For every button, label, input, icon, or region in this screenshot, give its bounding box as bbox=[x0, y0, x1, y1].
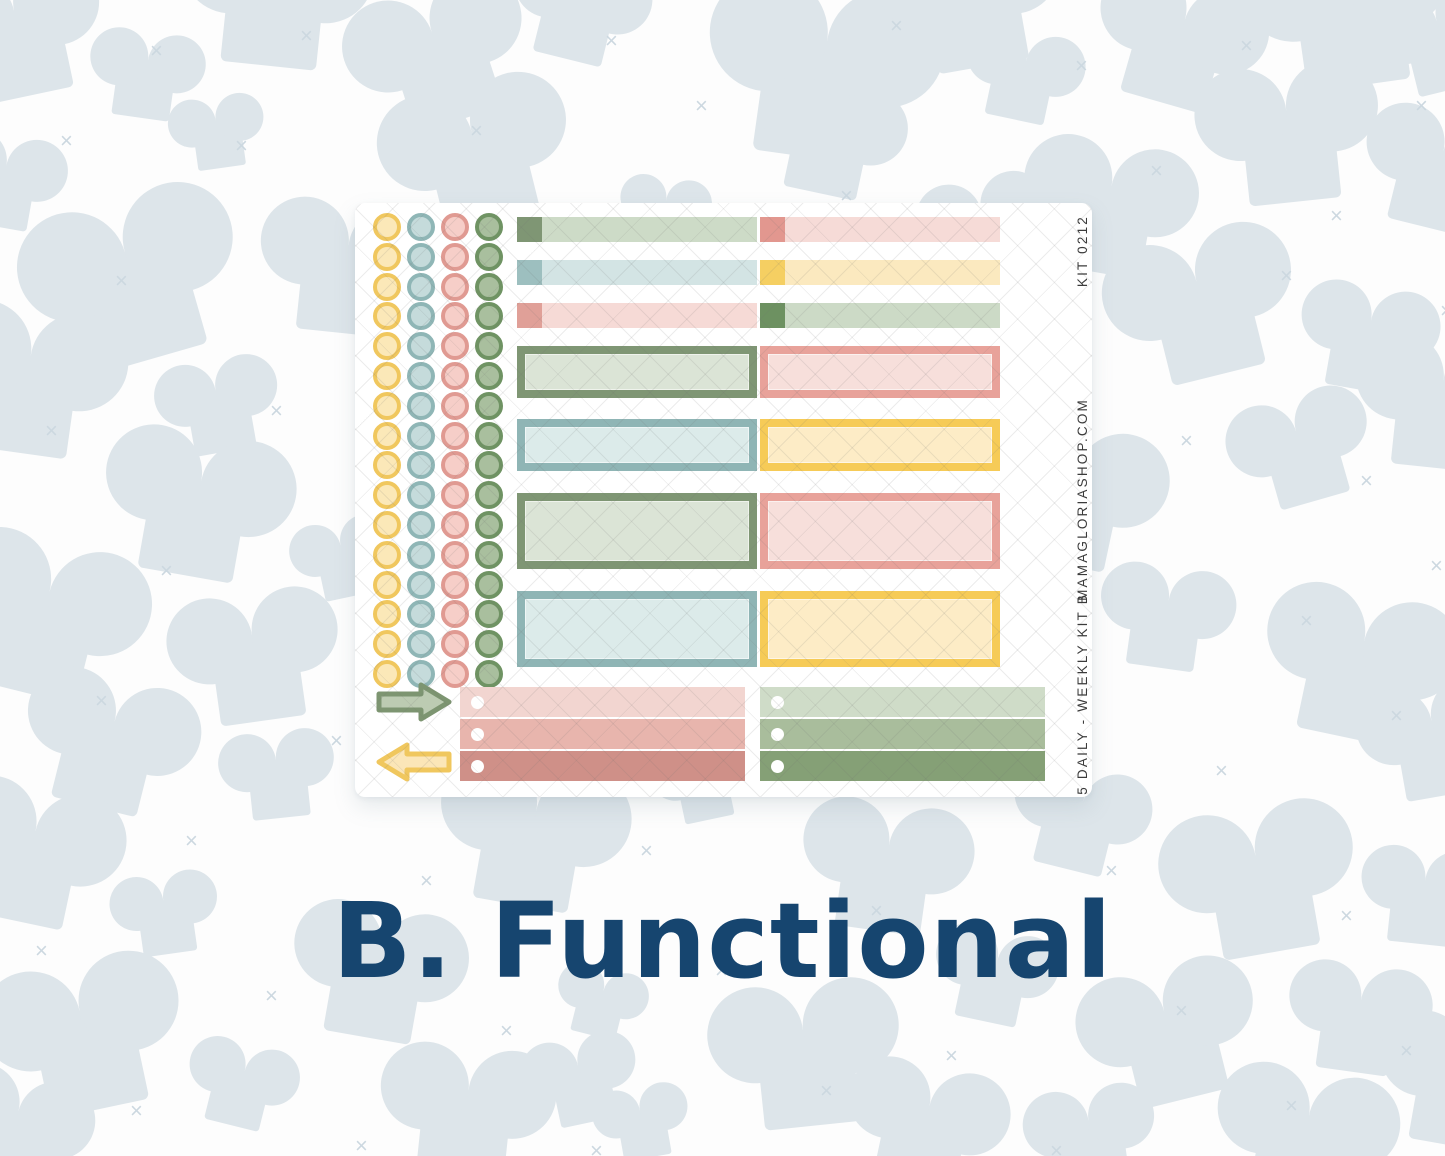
box-pink-1[interactable] bbox=[760, 346, 1000, 398]
cross-icon: × bbox=[45, 420, 58, 442]
banner-pink-dark-hole-icon bbox=[471, 760, 484, 773]
dot-sticker-pink[interactable] bbox=[441, 571, 469, 599]
header-strip-green-left-body bbox=[542, 217, 757, 242]
heart-icon bbox=[0, 160, 37, 232]
dot-sticker-yellow[interactable] bbox=[373, 302, 401, 330]
dot-sticker-teal[interactable] bbox=[407, 630, 435, 658]
dot-sticker-green[interactable] bbox=[475, 302, 503, 330]
heart-icon bbox=[1387, 142, 1445, 237]
header-strip-green-right[interactable] bbox=[760, 303, 1000, 328]
dot-sticker-green[interactable] bbox=[475, 481, 503, 509]
dot-sticker-teal[interactable] bbox=[407, 392, 435, 420]
heart-icon bbox=[247, 757, 311, 821]
heart-icon bbox=[1408, 1053, 1445, 1153]
dot-sticker-green[interactable] bbox=[475, 451, 503, 479]
cross-icon: × bbox=[1075, 55, 1088, 77]
dot-sticker-teal[interactable] bbox=[407, 302, 435, 330]
dot-sticker-pink[interactable] bbox=[441, 630, 469, 658]
header-strip-pink-right-tab bbox=[760, 217, 785, 242]
dot-sticker-pink[interactable] bbox=[441, 302, 469, 330]
cross-icon: × bbox=[1280, 265, 1293, 287]
dot-sticker-pink[interactable] bbox=[441, 481, 469, 509]
dot-sticker-teal[interactable] bbox=[407, 571, 435, 599]
header-strip-pink-right-body bbox=[785, 217, 1000, 242]
sheet-label-shop-url: MAMAGLORIASHOP.COM bbox=[1075, 398, 1090, 601]
header-strip-green-left[interactable] bbox=[517, 217, 757, 242]
heart-icon bbox=[111, 56, 177, 122]
dot-sticker-green[interactable] bbox=[475, 213, 503, 241]
sticker-sheet-content bbox=[355, 203, 1092, 797]
header-strip-yellow-right[interactable] bbox=[760, 260, 1000, 285]
cross-icon: × bbox=[355, 1135, 368, 1156]
cross-icon: × bbox=[1360, 470, 1373, 492]
heart-icon bbox=[137, 472, 248, 583]
cross-icon: × bbox=[1330, 205, 1343, 227]
box-teal-1[interactable] bbox=[517, 419, 757, 471]
box-green-1-inner bbox=[525, 354, 749, 390]
dot-sticker-pink[interactable] bbox=[441, 541, 469, 569]
dot-column-pink bbox=[441, 213, 475, 690]
cross-icon: × bbox=[330, 730, 343, 752]
dot-sticker-teal[interactable] bbox=[407, 451, 435, 479]
dot-sticker-yellow[interactable] bbox=[373, 392, 401, 420]
header-strip-teal-left[interactable] bbox=[517, 260, 757, 285]
sheet-label-kit-number: KIT 0212 bbox=[1075, 215, 1090, 287]
arrow-right-green[interactable] bbox=[375, 681, 453, 723]
cross-icon: × bbox=[1150, 160, 1163, 182]
dot-sticker-teal[interactable] bbox=[407, 600, 435, 628]
header-strip-pink-left-body bbox=[542, 303, 757, 328]
dot-sticker-teal[interactable] bbox=[407, 422, 435, 450]
heart-icon bbox=[0, 1102, 56, 1156]
arrow-right-green-shape bbox=[379, 685, 449, 719]
dot-sticker-pink[interactable] bbox=[441, 422, 469, 450]
cross-icon: × bbox=[300, 25, 313, 47]
cross-icon: × bbox=[890, 15, 903, 37]
header-strip-pink-left-tab bbox=[517, 303, 542, 328]
dot-sticker-teal[interactable] bbox=[407, 481, 435, 509]
header-strip-yellow-right-tab bbox=[760, 260, 785, 285]
banner-pink-light-hole-icon bbox=[471, 696, 484, 709]
heart-icon bbox=[755, 1025, 861, 1131]
heart-icon bbox=[1261, 421, 1350, 510]
dot-sticker-yellow[interactable] bbox=[373, 451, 401, 479]
cross-icon: × bbox=[95, 690, 108, 712]
dot-sticker-green[interactable] bbox=[475, 243, 503, 271]
banner-pink-light[interactable] bbox=[460, 687, 745, 717]
dot-sticker-teal[interactable] bbox=[407, 332, 435, 360]
cross-icon: × bbox=[695, 95, 708, 117]
dot-sticker-pink[interactable] bbox=[441, 511, 469, 539]
cross-icon: × bbox=[945, 1045, 958, 1067]
sheet-label-kit-descriptor: PP A5 DAILY - WEEKLY KIT B bbox=[1075, 593, 1090, 797]
page-title: B. Functional bbox=[0, 880, 1445, 1002]
heart-icon bbox=[204, 1064, 272, 1132]
dot-sticker-green[interactable] bbox=[475, 273, 503, 301]
heart-icon bbox=[616, 1106, 672, 1156]
heart-icon bbox=[1240, 105, 1341, 206]
cross-icon: × bbox=[115, 270, 128, 292]
arrow-left-yellow-shape bbox=[379, 745, 449, 779]
heart-icon bbox=[0, 349, 79, 460]
cross-icon: × bbox=[1440, 300, 1445, 322]
box-yellow-2[interactable] bbox=[760, 591, 1000, 667]
heart-icon bbox=[783, 113, 871, 201]
cross-icon: × bbox=[235, 135, 248, 157]
banner-pink-dark[interactable] bbox=[460, 751, 745, 781]
cross-icon: × bbox=[150, 40, 163, 62]
dot-sticker-yellow[interactable] bbox=[373, 273, 401, 301]
dot-sticker-pink[interactable] bbox=[441, 332, 469, 360]
dot-sticker-green[interactable] bbox=[475, 600, 503, 628]
dot-sticker-teal[interactable] bbox=[407, 362, 435, 390]
dot-sticker-teal[interactable] bbox=[407, 511, 435, 539]
dot-sticker-pink[interactable] bbox=[441, 392, 469, 420]
dot-sticker-teal[interactable] bbox=[407, 243, 435, 271]
dot-sticker-pink[interactable] bbox=[441, 362, 469, 390]
dot-sticker-yellow[interactable] bbox=[373, 600, 401, 628]
header-strip-pink-left[interactable] bbox=[517, 303, 757, 328]
dot-sticker-green[interactable] bbox=[475, 630, 503, 658]
banner-green-dark[interactable] bbox=[760, 751, 1045, 781]
cross-icon: × bbox=[605, 30, 618, 52]
cross-icon: × bbox=[1285, 1095, 1298, 1117]
dot-sticker-yellow[interactable] bbox=[373, 511, 401, 539]
cross-icon: × bbox=[1300, 610, 1313, 632]
header-strip-green-left-tab bbox=[517, 217, 542, 242]
dot-sticker-green[interactable] bbox=[475, 362, 503, 390]
banner-pink-medium[interactable] bbox=[460, 719, 745, 749]
cross-icon: × bbox=[1430, 555, 1443, 577]
dot-sticker-pink[interactable] bbox=[441, 273, 469, 301]
heart-icon bbox=[1126, 596, 1203, 673]
box-teal-1-inner bbox=[525, 427, 749, 463]
dot-sticker-pink[interactable] bbox=[441, 243, 469, 271]
cross-icon: × bbox=[1105, 860, 1118, 882]
banner-green-medium-hole-icon bbox=[771, 728, 784, 741]
banner-group-pink bbox=[460, 687, 745, 783]
cross-icon: × bbox=[160, 560, 173, 582]
dot-sticker-yellow[interactable] bbox=[373, 213, 401, 241]
cross-icon: × bbox=[270, 400, 283, 422]
cross-icon: × bbox=[820, 1080, 833, 1102]
box-yellow-1-inner bbox=[768, 427, 992, 463]
heart-icon bbox=[1150, 270, 1266, 386]
header-strip-green-right-tab bbox=[760, 303, 785, 328]
box-teal-2-inner bbox=[525, 599, 749, 659]
banner-pink-medium-hole-icon bbox=[471, 728, 484, 741]
heart-icon bbox=[872, 1097, 969, 1156]
cross-icon: × bbox=[1240, 35, 1253, 57]
heart-icon bbox=[1403, 13, 1445, 98]
dot-sticker-green[interactable] bbox=[475, 422, 503, 450]
cross-icon: × bbox=[1050, 1140, 1063, 1156]
dot-column-green bbox=[475, 213, 509, 690]
dot-column-teal bbox=[407, 213, 441, 690]
cross-icon: × bbox=[1400, 1040, 1413, 1062]
cross-icon: × bbox=[470, 120, 483, 142]
heart-icon bbox=[1391, 376, 1445, 473]
dot-sticker-yellow[interactable] bbox=[373, 630, 401, 658]
cross-icon: × bbox=[1415, 95, 1428, 117]
banner-green-light[interactable] bbox=[760, 687, 1045, 717]
arrow-left-yellow[interactable] bbox=[375, 741, 453, 783]
dot-sticker-yellow[interactable] bbox=[373, 571, 401, 599]
header-strip-teal-left-tab bbox=[517, 260, 542, 285]
heart-icon bbox=[0, 2, 74, 104]
header-strip-pink-right[interactable] bbox=[760, 217, 1000, 242]
cross-icon: × bbox=[1215, 760, 1228, 782]
header-strip-green-right-body bbox=[785, 303, 1000, 328]
banner-group-green bbox=[760, 687, 1045, 783]
cross-icon: × bbox=[500, 1020, 513, 1042]
dot-sticker-teal[interactable] bbox=[407, 213, 435, 241]
heart-icon bbox=[1056, 1116, 1131, 1156]
dot-sticker-green[interactable] bbox=[475, 392, 503, 420]
cross-icon: × bbox=[60, 130, 73, 152]
dot-sticker-green[interactable] bbox=[475, 511, 503, 539]
heart-icon bbox=[550, 1060, 619, 1129]
dot-sticker-yellow[interactable] bbox=[373, 362, 401, 390]
box-pink-2-inner bbox=[768, 501, 992, 561]
cross-icon: × bbox=[1180, 430, 1193, 452]
heart-icon bbox=[1248, 1108, 1355, 1156]
box-green-2[interactable] bbox=[517, 493, 757, 569]
heart-icon bbox=[416, 1086, 513, 1156]
dot-sticker-yellow[interactable] bbox=[373, 481, 401, 509]
header-strip-yellow-right-body bbox=[785, 260, 1000, 285]
sticker-sheet: KIT 0212 MAMAGLORIASHOP.COM PP A5 DAILY … bbox=[355, 203, 1092, 797]
box-yellow-2-inner bbox=[768, 599, 992, 659]
dot-sticker-yellow[interactable] bbox=[373, 243, 401, 271]
heart-icon bbox=[984, 54, 1055, 125]
box-green-2-inner bbox=[525, 501, 749, 561]
banner-green-medium[interactable] bbox=[760, 719, 1045, 749]
box-pink-2[interactable] bbox=[760, 493, 1000, 569]
box-teal-2[interactable] bbox=[517, 591, 757, 667]
heart-icon bbox=[209, 629, 306, 726]
box-yellow-1[interactable] bbox=[760, 419, 1000, 471]
dot-sticker-green[interactable] bbox=[475, 571, 503, 599]
dot-sticker-pink[interactable] bbox=[441, 213, 469, 241]
cross-icon: × bbox=[640, 840, 653, 862]
dot-sticker-teal[interactable] bbox=[407, 541, 435, 569]
cross-icon: × bbox=[185, 830, 198, 852]
dot-sticker-green[interactable] bbox=[475, 332, 503, 360]
dot-column-yellow bbox=[373, 213, 407, 690]
cross-icon: × bbox=[1175, 1000, 1188, 1022]
dot-sticker-green[interactable] bbox=[475, 541, 503, 569]
cross-icon: × bbox=[590, 1140, 603, 1156]
dot-sticker-pink[interactable] bbox=[441, 451, 469, 479]
dot-sticker-yellow[interactable] bbox=[373, 422, 401, 450]
header-strip-teal-left-body bbox=[542, 260, 757, 285]
banner-green-light-hole-icon bbox=[771, 696, 784, 709]
cross-icon: × bbox=[1390, 705, 1403, 727]
cross-icon: × bbox=[130, 1100, 143, 1122]
dot-sticker-yellow[interactable] bbox=[373, 332, 401, 360]
dot-sticker-yellow[interactable] bbox=[373, 541, 401, 569]
dot-sticker-pink[interactable] bbox=[441, 600, 469, 628]
dot-sticker-green[interactable] bbox=[475, 660, 503, 688]
box-pink-1-inner bbox=[768, 354, 992, 390]
box-green-1[interactable] bbox=[517, 346, 757, 398]
banner-green-dark-hole-icon bbox=[771, 760, 784, 773]
dot-sticker-teal[interactable] bbox=[407, 273, 435, 301]
